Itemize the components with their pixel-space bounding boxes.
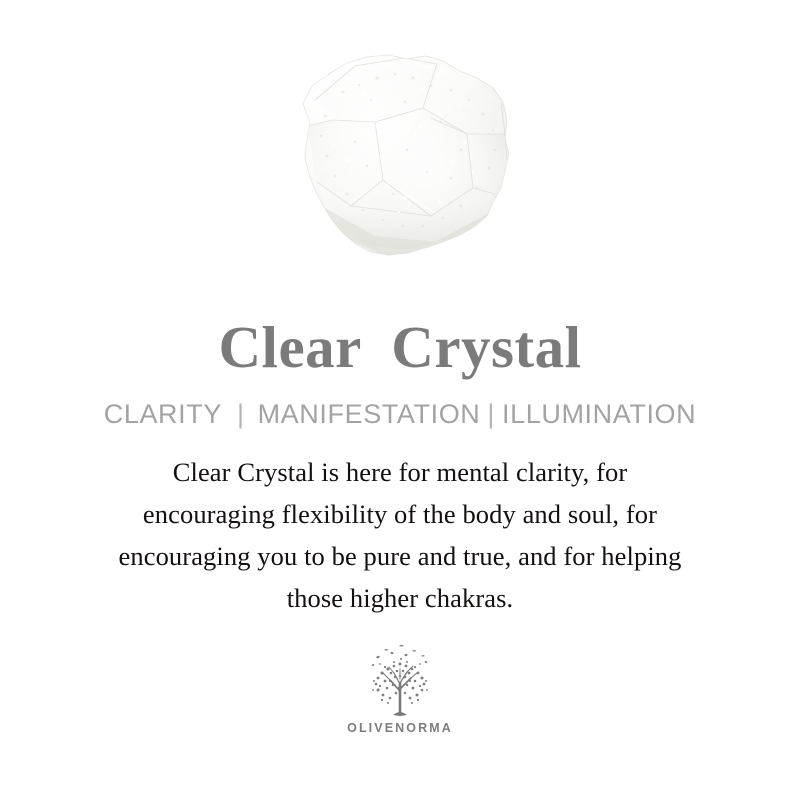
product-card: Clear Crystal CLARITY | MANIFESTATION | … xyxy=(0,0,800,800)
tree-icon xyxy=(354,643,446,721)
description-line: encouraging flexibility of the body and … xyxy=(50,493,750,535)
product-title: Clear Crystal xyxy=(218,318,581,377)
brand-logo: OLIVENORMA xyxy=(347,643,453,735)
brand-name: OLIVENORMA xyxy=(347,722,453,735)
description-line: Clear Crystal is here for mental clarity… xyxy=(50,451,750,493)
product-image-container xyxy=(0,0,800,318)
crystal-image xyxy=(255,30,545,290)
keyword-separator-1: | xyxy=(222,401,258,428)
product-description: Clear Crystal is here for mental clarity… xyxy=(50,451,750,619)
keyword-manifestation: MANIFESTATION xyxy=(258,401,481,428)
product-keywords: CLARITY | MANIFESTATION | ILLUMINATION xyxy=(104,401,697,428)
keyword-separator-2: | xyxy=(480,401,502,428)
keyword-clarity: CLARITY xyxy=(104,401,222,428)
crystal-facets xyxy=(255,30,545,290)
description-line: encouraging you to be pure and true, and… xyxy=(50,535,750,577)
description-line: those higher chakras. xyxy=(50,577,750,619)
clear-quartz-illustration xyxy=(255,30,545,290)
keyword-illumination: ILLUMINATION xyxy=(502,401,696,428)
